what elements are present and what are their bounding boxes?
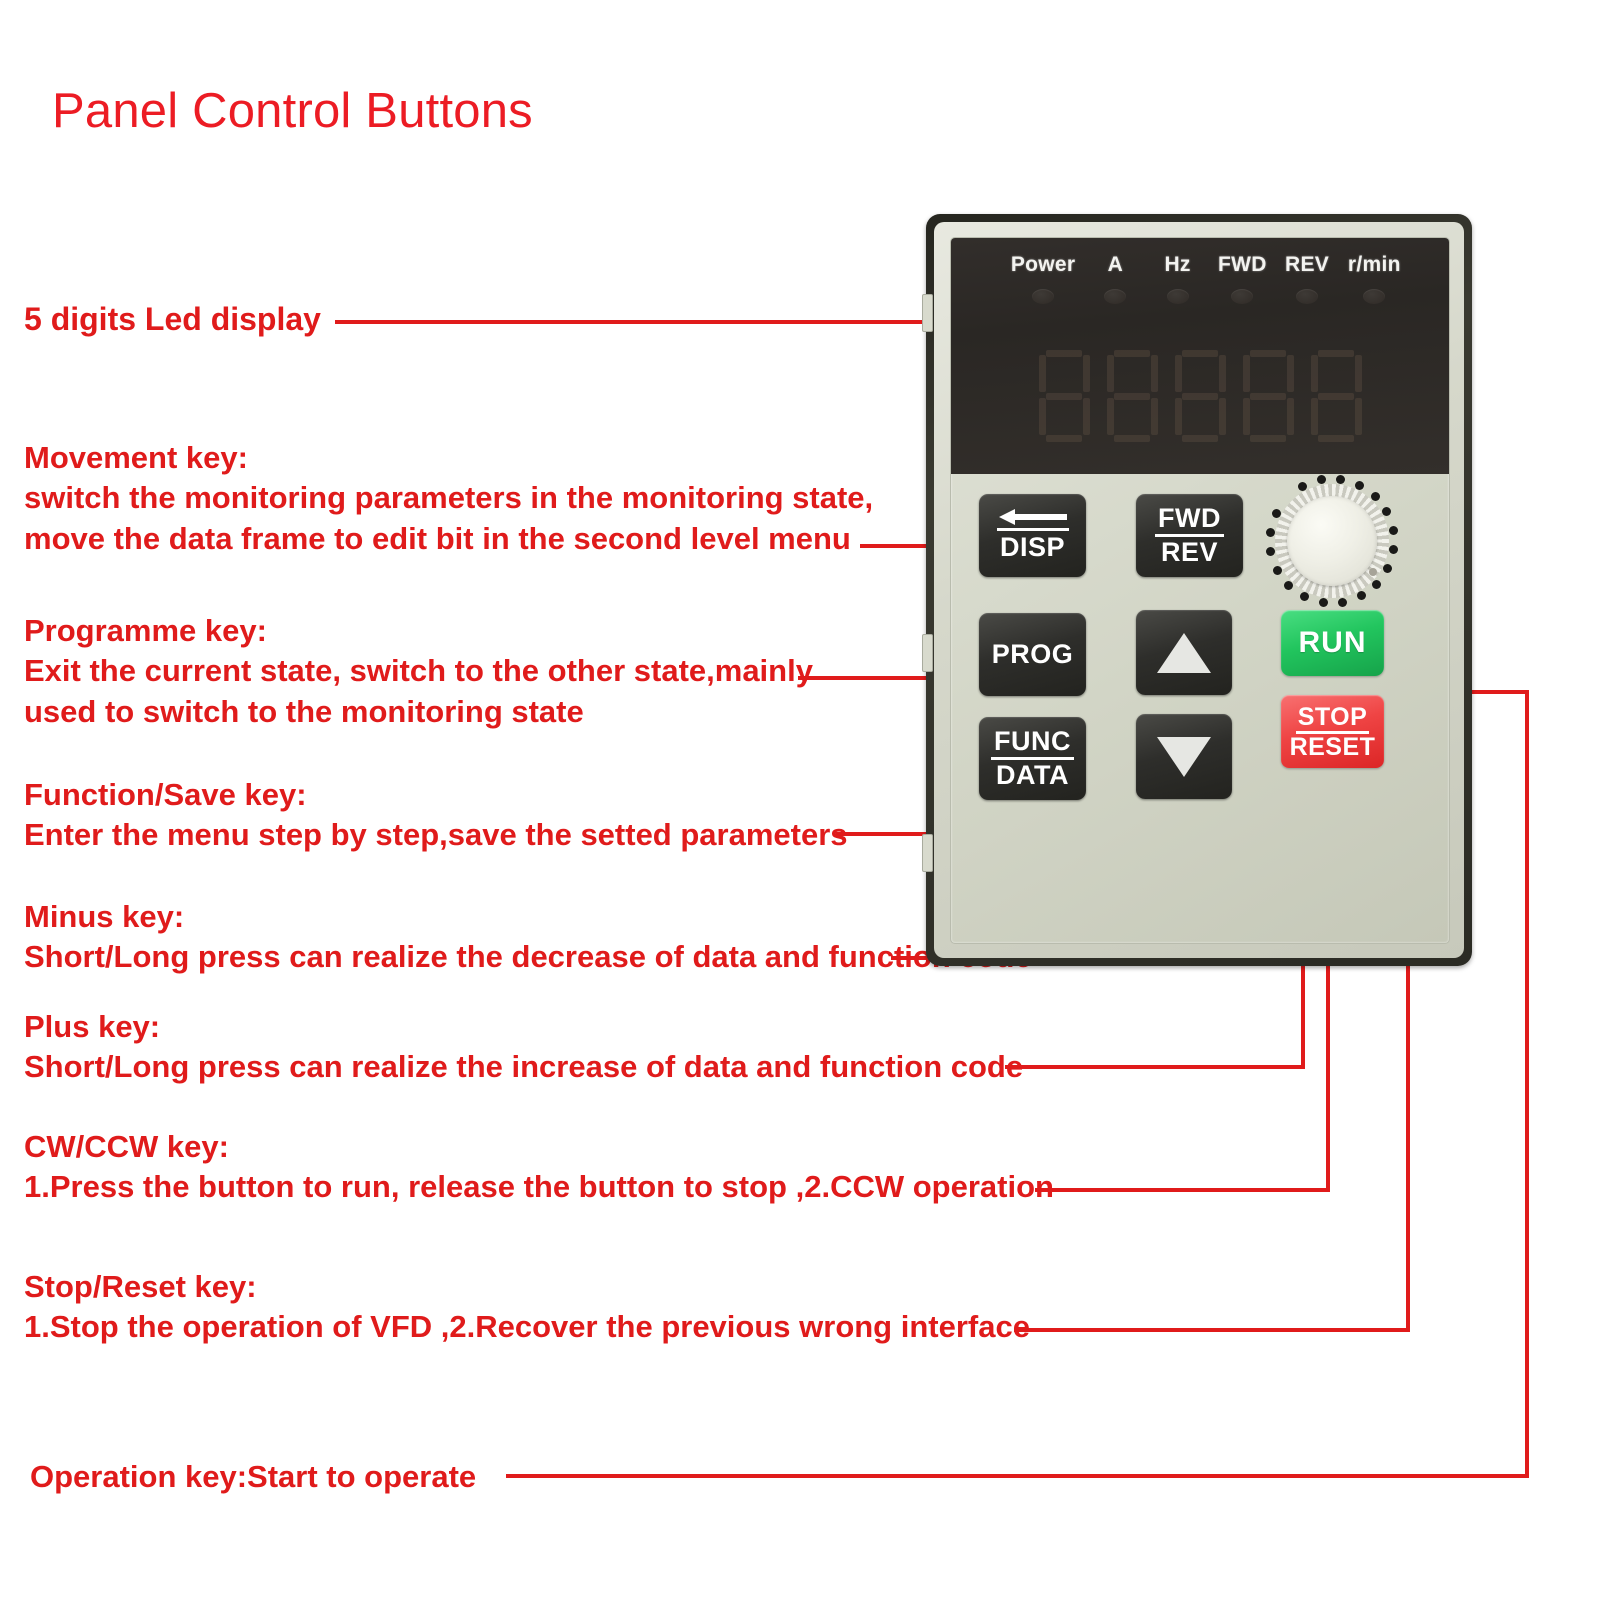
annotation-operation-key: Operation key:Start to operate	[30, 1457, 476, 1497]
led-lamp-hz	[1167, 289, 1189, 304]
segment	[1114, 393, 1150, 400]
led-indicator-label-rev: REV	[1285, 253, 1329, 277]
knob-scale-dots	[1263, 480, 1403, 604]
segment	[1287, 355, 1294, 392]
segment	[1046, 350, 1082, 357]
seven-segment-digits	[951, 332, 1449, 460]
segment	[1243, 398, 1250, 435]
fwd-rev-button[interactable]: FWD REV	[1136, 494, 1243, 577]
segment	[1107, 398, 1114, 435]
segment	[1250, 350, 1286, 357]
led-indicator-label-fwd: FWD	[1218, 253, 1267, 277]
disp-button-label: DISP	[1000, 534, 1065, 562]
annotation-line: 1.Stop the operation of VFD ,2.Recover t…	[24, 1307, 1030, 1347]
knob-scale-dot	[1266, 547, 1275, 556]
annotation-line: Enter the menu step by step,save the set…	[24, 815, 848, 855]
segment	[1250, 393, 1286, 400]
segment	[1287, 398, 1294, 435]
knob-scale-dot	[1298, 482, 1307, 491]
infographic-canvas: Panel Control Buttons 5 digits Led displ…	[0, 0, 1601, 1601]
seven-segment-digit	[1174, 350, 1226, 442]
annotation-programme-key: Programme key: Exit the current state, s…	[24, 611, 813, 732]
knob-scale-dot	[1372, 580, 1381, 589]
prog-button-label: PROG	[992, 641, 1074, 669]
prog-button[interactable]: PROG	[979, 613, 1086, 696]
led-indicator-labels: PowerAHzFWDREVr/min	[951, 250, 1449, 280]
triangle-down-icon	[1157, 737, 1211, 777]
segment	[1243, 355, 1250, 392]
lamp	[1032, 289, 1054, 304]
lamp	[1296, 289, 1318, 304]
segment	[1311, 355, 1318, 392]
reset-label: RESET	[1290, 734, 1376, 760]
disp-button[interactable]: DISP	[979, 494, 1086, 577]
led-indicator-lamps	[951, 284, 1449, 308]
lamp	[1363, 289, 1385, 304]
led-indicator-label-a: A	[1108, 253, 1123, 277]
segment	[1182, 393, 1218, 400]
vfd-control-panel: PowerAHzFWDREVr/min DISP	[926, 214, 1472, 966]
down-arrow-button[interactable]	[1136, 714, 1232, 799]
panel-hinge-tab	[922, 834, 933, 872]
keypad: DISP FWD REV PROG FUNC DATA	[951, 474, 1449, 943]
led-indicator-label-r-min: r/min	[1348, 253, 1401, 277]
segment	[1083, 355, 1090, 392]
knob-scale-dot	[1273, 566, 1282, 575]
rev-label: REV	[1161, 537, 1218, 567]
seven-segment-digit	[1106, 350, 1158, 442]
segment	[1318, 393, 1354, 400]
segment	[1219, 398, 1226, 435]
segment	[1311, 398, 1318, 435]
segment	[1107, 355, 1114, 392]
knob-scale-dot	[1338, 598, 1347, 607]
segment	[1151, 398, 1158, 435]
stop-label: STOP	[1296, 704, 1370, 734]
annotation-line: 1.Press the button to run, release the b…	[24, 1167, 1054, 1207]
led-lamp-r-min	[1363, 289, 1385, 304]
segment	[1039, 398, 1046, 435]
triangle-up-icon	[1157, 633, 1211, 673]
panel-hinge-tab	[922, 634, 933, 672]
knob-scale-dot	[1300, 592, 1309, 601]
annotation-heading: Function/Save key:	[24, 775, 848, 815]
annotation-movement-key: Movement key: switch the monitoring para…	[24, 438, 873, 559]
segment	[1355, 398, 1362, 435]
left-arrow-icon	[999, 509, 1067, 525]
segment	[1219, 355, 1226, 392]
up-arrow-button[interactable]	[1136, 610, 1232, 695]
segment	[1318, 350, 1354, 357]
segment	[1182, 350, 1218, 357]
annotation-line: move the data frame to edit bit in the s…	[24, 519, 873, 559]
annotation-plus-key: Plus key: Short/Long press can realize t…	[24, 1007, 1023, 1088]
led-lamp-power	[1032, 289, 1054, 304]
segment	[1151, 355, 1158, 392]
annotation-heading: Movement key:	[24, 438, 873, 478]
knob-scale-dot	[1272, 509, 1281, 518]
segment	[1318, 435, 1354, 442]
panel-face: PowerAHzFWDREVr/min DISP	[950, 237, 1450, 944]
seven-segment-digit	[1242, 350, 1294, 442]
annotation-led-display: 5 digits Led display	[24, 299, 321, 341]
knob-scale-dot	[1284, 581, 1293, 590]
lamp	[1104, 289, 1126, 304]
knob-scale-dot	[1355, 481, 1364, 490]
page-title: Panel Control Buttons	[52, 83, 533, 139]
annotation-line: Short/Long press can realize the decreas…	[24, 937, 1032, 977]
led-lamp-rev	[1296, 289, 1318, 304]
seven-segment-digit	[1310, 350, 1362, 442]
knob-scale-dot	[1382, 507, 1391, 516]
knob-scale-dot	[1319, 598, 1328, 607]
segment	[1175, 355, 1182, 392]
knob-scale-dot	[1266, 528, 1275, 537]
data-label: DATA	[996, 760, 1069, 790]
annotation-heading: CW/CCW key:	[24, 1127, 1054, 1167]
segment	[1083, 398, 1090, 435]
annotation-line: Short/Long press can realize the increas…	[24, 1047, 1023, 1087]
annotation-heading: Stop/Reset key:	[24, 1267, 1030, 1307]
segment	[1250, 435, 1286, 442]
led-lamp-fwd	[1231, 289, 1253, 304]
annotation-minus-key: Minus key: Short/Long press can realize …	[24, 897, 1032, 978]
run-button[interactable]: RUN	[1281, 610, 1384, 676]
segment	[1114, 435, 1150, 442]
annotation-line: used to switch to the monitoring state	[24, 692, 813, 732]
annotation-heading: Plus key:	[24, 1007, 1023, 1047]
potentiometer-knob[interactable]	[1263, 480, 1403, 604]
run-button-label: RUN	[1299, 626, 1367, 660]
segment	[1039, 355, 1046, 392]
annotation-cw-ccw-key: CW/CCW key: 1.Press the button to run, r…	[24, 1127, 1054, 1208]
knob-scale-dot	[1357, 591, 1366, 600]
knob-scale-dot	[1371, 492, 1380, 501]
fwd-label: FWD	[1155, 505, 1224, 537]
annotation-line: switch the monitoring parameters in the …	[24, 478, 873, 518]
knob-scale-dot	[1389, 526, 1398, 535]
led-indicator-label-power: Power	[1011, 253, 1076, 277]
segment	[1182, 435, 1218, 442]
annotation-stop-reset-key: Stop/Reset key: 1.Stop the operation of …	[24, 1267, 1030, 1348]
segment	[1046, 435, 1082, 442]
annotation-line: 5 digits Led display	[24, 299, 321, 341]
led-lamp-a	[1104, 289, 1126, 304]
key-divider	[997, 528, 1069, 531]
knob-scale-dot	[1389, 545, 1398, 554]
annotation-function-save-key: Function/Save key: Enter the menu step b…	[24, 775, 848, 856]
annotation-heading: Programme key:	[24, 611, 813, 651]
func-label: FUNC	[991, 728, 1074, 760]
knob-scale-dot	[1317, 475, 1326, 484]
panel-bezel: PowerAHzFWDREVr/min DISP	[934, 222, 1464, 958]
segment	[1046, 393, 1082, 400]
panel-hinge-tab	[922, 294, 933, 332]
led-indicator-label-hz: Hz	[1164, 253, 1190, 277]
segment	[1114, 350, 1150, 357]
knob-scale-dot	[1336, 475, 1345, 484]
func-data-button[interactable]: FUNC DATA	[979, 717, 1086, 800]
knob-scale-dot	[1383, 564, 1392, 573]
annotation-heading: Minus key:	[24, 897, 1032, 937]
segment	[1355, 355, 1362, 392]
lamp	[1231, 289, 1253, 304]
annotation-line: Operation key:Start to operate	[30, 1457, 476, 1497]
lamp	[1167, 289, 1189, 304]
annotation-line: Exit the current state, switch to the ot…	[24, 651, 813, 691]
seven-segment-digit	[1038, 350, 1090, 442]
led-display: PowerAHzFWDREVr/min	[951, 238, 1449, 474]
stop-reset-button[interactable]: STOP RESET	[1281, 695, 1384, 768]
segment	[1175, 398, 1182, 435]
